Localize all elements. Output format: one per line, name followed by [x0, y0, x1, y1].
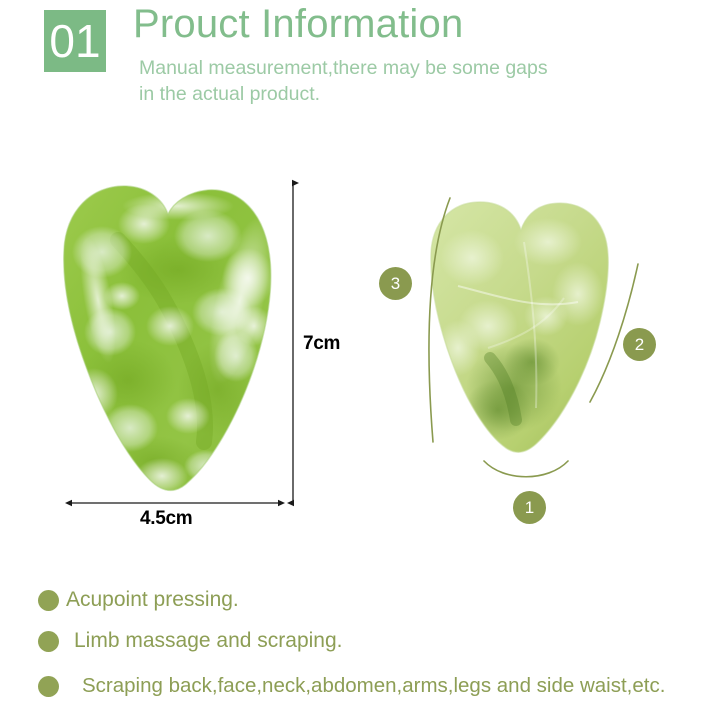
- feature-text: Acupoint pressing.: [66, 585, 239, 615]
- feature-text: Scraping back,face,neck,abdomen,arms,leg…: [82, 671, 665, 701]
- height-dimension-label: 7cm: [303, 333, 340, 355]
- callout-badge-1: 1: [513, 491, 546, 524]
- bullet-dot-icon: [38, 676, 59, 697]
- feature-list-item: Scraping back,face,neck,abdomen,arms,leg…: [0, 668, 720, 713]
- bullet-dot-icon: [38, 590, 59, 611]
- page-subtitle-line-2: in the actual product.: [139, 81, 659, 107]
- gua-sha-stone-right-image: [428, 198, 614, 460]
- feature-list-item: Limb massage and scraping.: [0, 623, 720, 668]
- callout-badge-2: 2: [623, 328, 656, 361]
- gua-sha-stone-left-image: [58, 180, 278, 500]
- feature-text: Limb massage and scraping.: [74, 626, 342, 656]
- page-title: Prouct Information: [133, 2, 463, 47]
- feature-list-item: Acupoint pressing.: [0, 582, 720, 623]
- product-information-infographic: 01 Prouct Information Manual measurement…: [0, 0, 720, 720]
- width-dimension-label: 4.5cm: [140, 508, 192, 530]
- page-subtitle-line-1: Manual measurement,there may be some gap…: [139, 55, 659, 81]
- feature-list: Acupoint pressing. Limb massage and scra…: [0, 582, 720, 713]
- callout-arc-1: [484, 461, 568, 477]
- callout-badge-3: 3: [379, 267, 412, 300]
- page-subtitle: Manual measurement,there may be some gap…: [139, 55, 659, 107]
- bullet-dot-icon: [38, 631, 59, 652]
- step-number-badge: 01: [44, 10, 106, 72]
